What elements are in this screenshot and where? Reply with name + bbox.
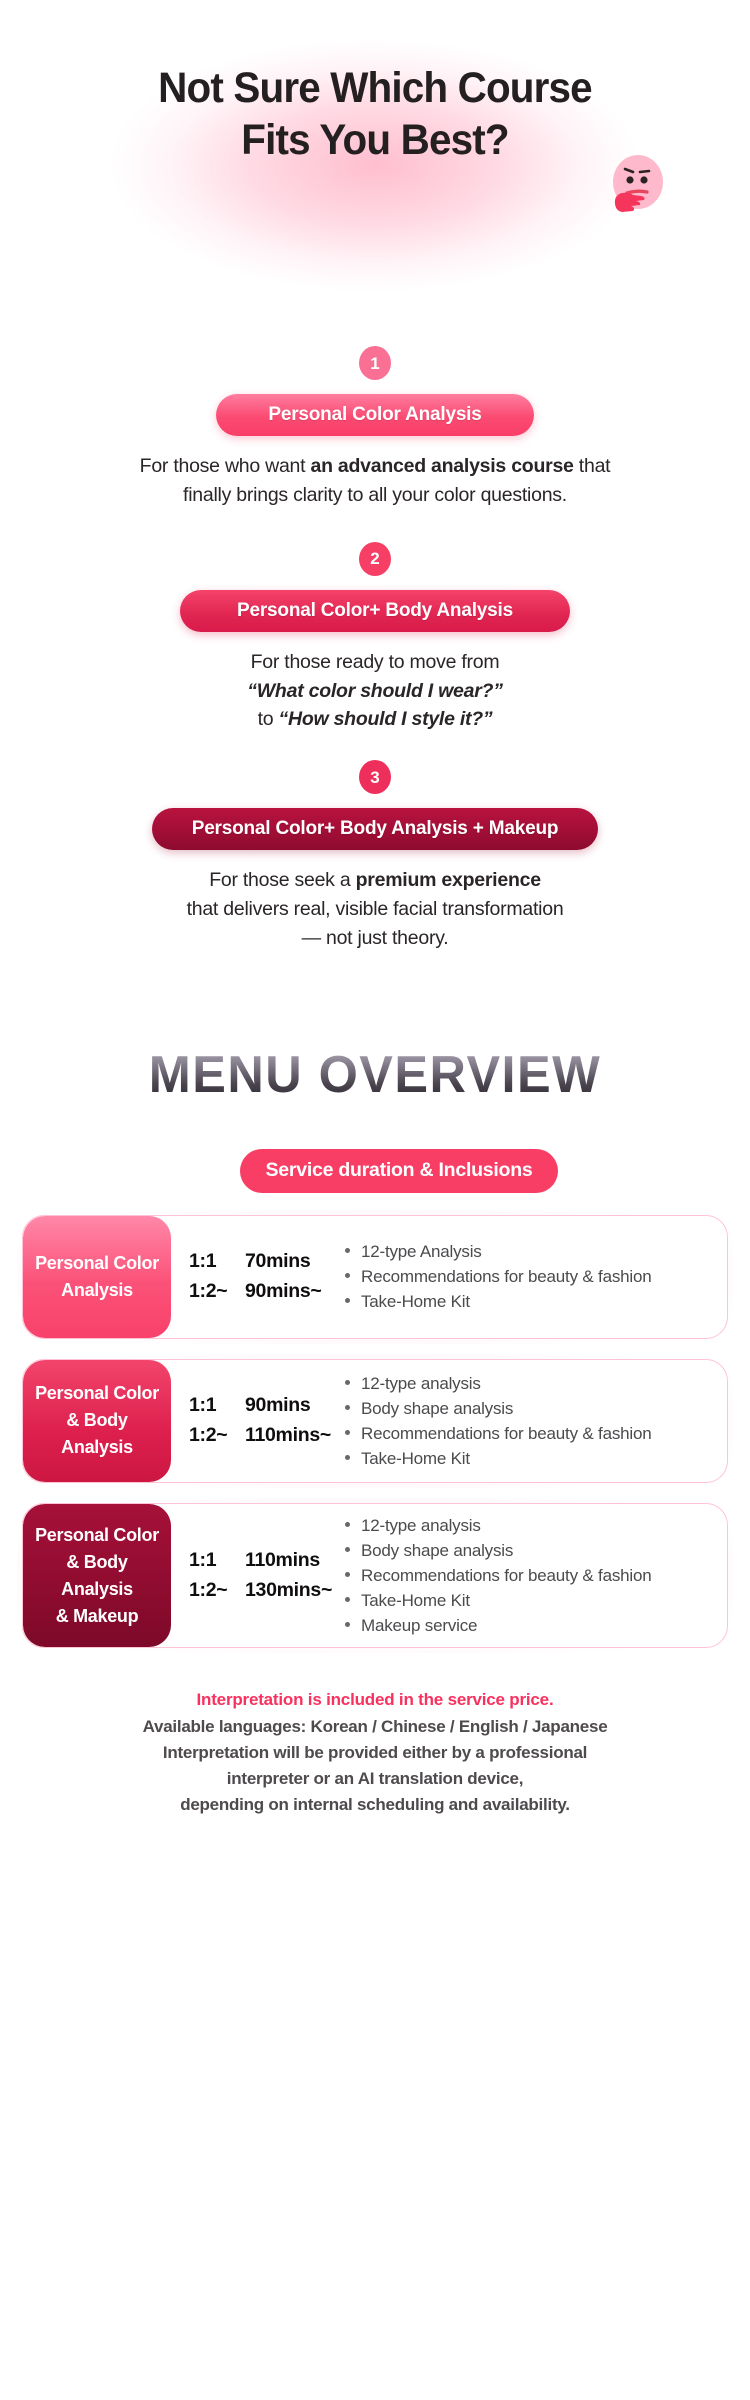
desc1-line2: finally brings clarity to all your color…: [183, 484, 567, 506]
footer-line-4: depending on internal scheduling and ava…: [40, 1792, 710, 1818]
card-1-duration-time-1: 70mins: [245, 1250, 310, 1273]
course-pill-personal-color-analysis[interactable]: Personal Color Analysis: [216, 394, 534, 436]
desc1-bold: an advanced analysis course: [311, 455, 574, 477]
card-1-duration-time-2: 90mins~: [245, 1280, 322, 1303]
card-3-label-line2: & Body Analysis: [61, 1552, 133, 1599]
step-badge-1: 1: [359, 346, 391, 380]
card-3-duration-row-1: 1:1 110mins: [189, 1549, 339, 1572]
desc1-pre: For those who want: [140, 455, 311, 477]
card-3-label: Personal Color & Body Analysis & Makeup: [23, 1504, 171, 1648]
card-2-duration-time-2: 110mins~: [245, 1424, 331, 1447]
card-3-label-line3: & Makeup: [56, 1606, 139, 1626]
desc1-post: that: [574, 455, 611, 477]
course-pill-personal-color-body-makeup[interactable]: Personal Color+ Body Analysis + Makeup: [152, 808, 598, 850]
card-2-duration-row-1: 1:1 90mins: [189, 1394, 339, 1417]
desc3-line3: — not just theory.: [302, 927, 449, 949]
card-3-durations: 1:1 110mins 1:2~ 130mins~: [171, 1504, 339, 1648]
footer-line-2: Interpretation will be provided either b…: [40, 1740, 710, 1766]
card-1-inclusions: 12-type Analysis Recommendations for bea…: [339, 1216, 727, 1338]
footer-line-1: Available languages: Korean / Chinese / …: [40, 1714, 710, 1740]
card-1-duration-row-2: 1:2~ 90mins~: [189, 1280, 339, 1303]
card-3-duration-type-1: 1:1: [189, 1549, 245, 1572]
list-item: Recommendations for beauty & fashion: [343, 1564, 715, 1587]
step-badge-2: 2: [359, 542, 391, 576]
card-2-duration-type-2: 1:2~: [189, 1424, 245, 1447]
card-3-inclusions: 12-type analysis Body shape analysis Rec…: [339, 1504, 727, 1648]
menu-card-personal-color-body-analysis[interactable]: Personal Color & Body Analysis 1:1 90min…: [22, 1359, 728, 1483]
course-steps: 1 Personal Color Analysis For those who …: [0, 330, 750, 953]
page-title-line2: Fits You Best?: [241, 116, 508, 164]
card-3-duration-time-2: 130mins~: [245, 1579, 332, 1602]
list-item: 12-type analysis: [343, 1372, 715, 1395]
course-description-3: For those seek a premium experience that…: [0, 866, 750, 953]
desc2-line3-pre: to: [258, 708, 279, 730]
desc2-quote1: “What color should I wear?”: [247, 680, 502, 702]
list-item: Body shape analysis: [343, 1397, 715, 1420]
card-2-label: Personal Color & Body Analysis: [23, 1360, 171, 1482]
card-1-duration-row-1: 1:1 70mins: [189, 1250, 339, 1273]
page-title-line1: Not Sure Which Course: [158, 64, 592, 112]
menu-card-personal-color-analysis[interactable]: Personal Color Analysis 1:1 70mins 1:2~ …: [22, 1215, 728, 1339]
page-title: Not Sure Which Course Fits You Best?: [23, 0, 728, 167]
menu-overview-heading: MENU OVERVIEW: [11, 1045, 739, 1105]
card-2-durations: 1:1 90mins 1:2~ 110mins~: [171, 1360, 339, 1482]
step-badge-3: 3: [359, 760, 391, 794]
menu-card-personal-color-body-makeup[interactable]: Personal Color & Body Analysis & Makeup …: [22, 1503, 728, 1649]
list-item: Body shape analysis: [343, 1539, 715, 1562]
menu-overview-section: MENU OVERVIEW Service duration & Inclusi…: [0, 953, 750, 1649]
thinking-face-icon: [605, 152, 667, 218]
course-description-2: For those ready to move from “What color…: [0, 648, 750, 735]
card-1-label-line2: Analysis: [61, 1280, 133, 1300]
card-3-label-line1: Personal Color: [35, 1525, 159, 1545]
card-2-duration-type-1: 1:1: [189, 1394, 245, 1417]
course-step-3: 3 Personal Color+ Body Analysis + Makeup…: [0, 734, 750, 953]
card-2-label-line2: & Body Analysis: [61, 1410, 133, 1457]
course-pill-personal-color-body-analysis[interactable]: Personal Color+ Body Analysis: [180, 590, 570, 632]
list-item: 12-type analysis: [343, 1514, 715, 1537]
footer-highlight: Interpretation is included in the servic…: [40, 1690, 710, 1710]
service-pill-row: Service duration & Inclusions: [0, 1149, 750, 1193]
service-duration-inclusions-pill[interactable]: Service duration & Inclusions: [240, 1149, 559, 1193]
card-2-duration-row-2: 1:2~ 110mins~: [189, 1424, 339, 1447]
list-item: Recommendations for beauty & fashion: [343, 1265, 715, 1288]
desc3-line2: that delivers real, visible facial trans…: [187, 898, 564, 920]
course-step-1: 1 Personal Color Analysis For those who …: [0, 334, 750, 510]
course-step-2: 2 Personal Color+ Body Analysis For thos…: [0, 510, 750, 735]
card-3-duration-type-2: 1:2~: [189, 1579, 245, 1602]
card-2-inclusions: 12-type analysis Body shape analysis Rec…: [339, 1360, 727, 1482]
list-item: Take-Home Kit: [343, 1290, 715, 1313]
footer-line-3: interpreter or an AI translation device,: [40, 1766, 710, 1792]
card-3-duration-row-2: 1:2~ 130mins~: [189, 1579, 339, 1602]
card-1-label: Personal Color Analysis: [23, 1216, 171, 1338]
card-1-label-line1: Personal Color: [35, 1253, 159, 1273]
desc2-quote2: “How should I style it?”: [279, 708, 493, 730]
card-1-duration-type-2: 1:2~: [189, 1280, 245, 1303]
card-1-duration-type-1: 1:1: [189, 1250, 245, 1273]
desc3-pre: For those seek a: [209, 869, 355, 891]
card-2-duration-time-1: 90mins: [245, 1394, 310, 1417]
list-item: 12-type Analysis: [343, 1240, 715, 1263]
footer-notes: Interpretation is included in the servic…: [0, 1668, 750, 1817]
course-description-1: For those who want an advanced analysis …: [0, 452, 750, 510]
menu-cards: Personal Color Analysis 1:1 70mins 1:2~ …: [0, 1193, 750, 1649]
card-3-duration-time-1: 110mins: [245, 1549, 320, 1572]
hero-banner: Not Sure Which Course Fits You Best?: [0, 0, 750, 330]
desc2-line1: For those ready to move from: [251, 651, 500, 673]
desc3-bold: premium experience: [356, 869, 541, 891]
list-item: Makeup service: [343, 1614, 715, 1637]
list-item: Take-Home Kit: [343, 1589, 715, 1612]
card-1-durations: 1:1 70mins 1:2~ 90mins~: [171, 1216, 339, 1338]
list-item: Recommendations for beauty & fashion: [343, 1422, 715, 1445]
card-2-label-line1: Personal Color: [35, 1383, 159, 1403]
list-item: Take-Home Kit: [343, 1447, 715, 1470]
